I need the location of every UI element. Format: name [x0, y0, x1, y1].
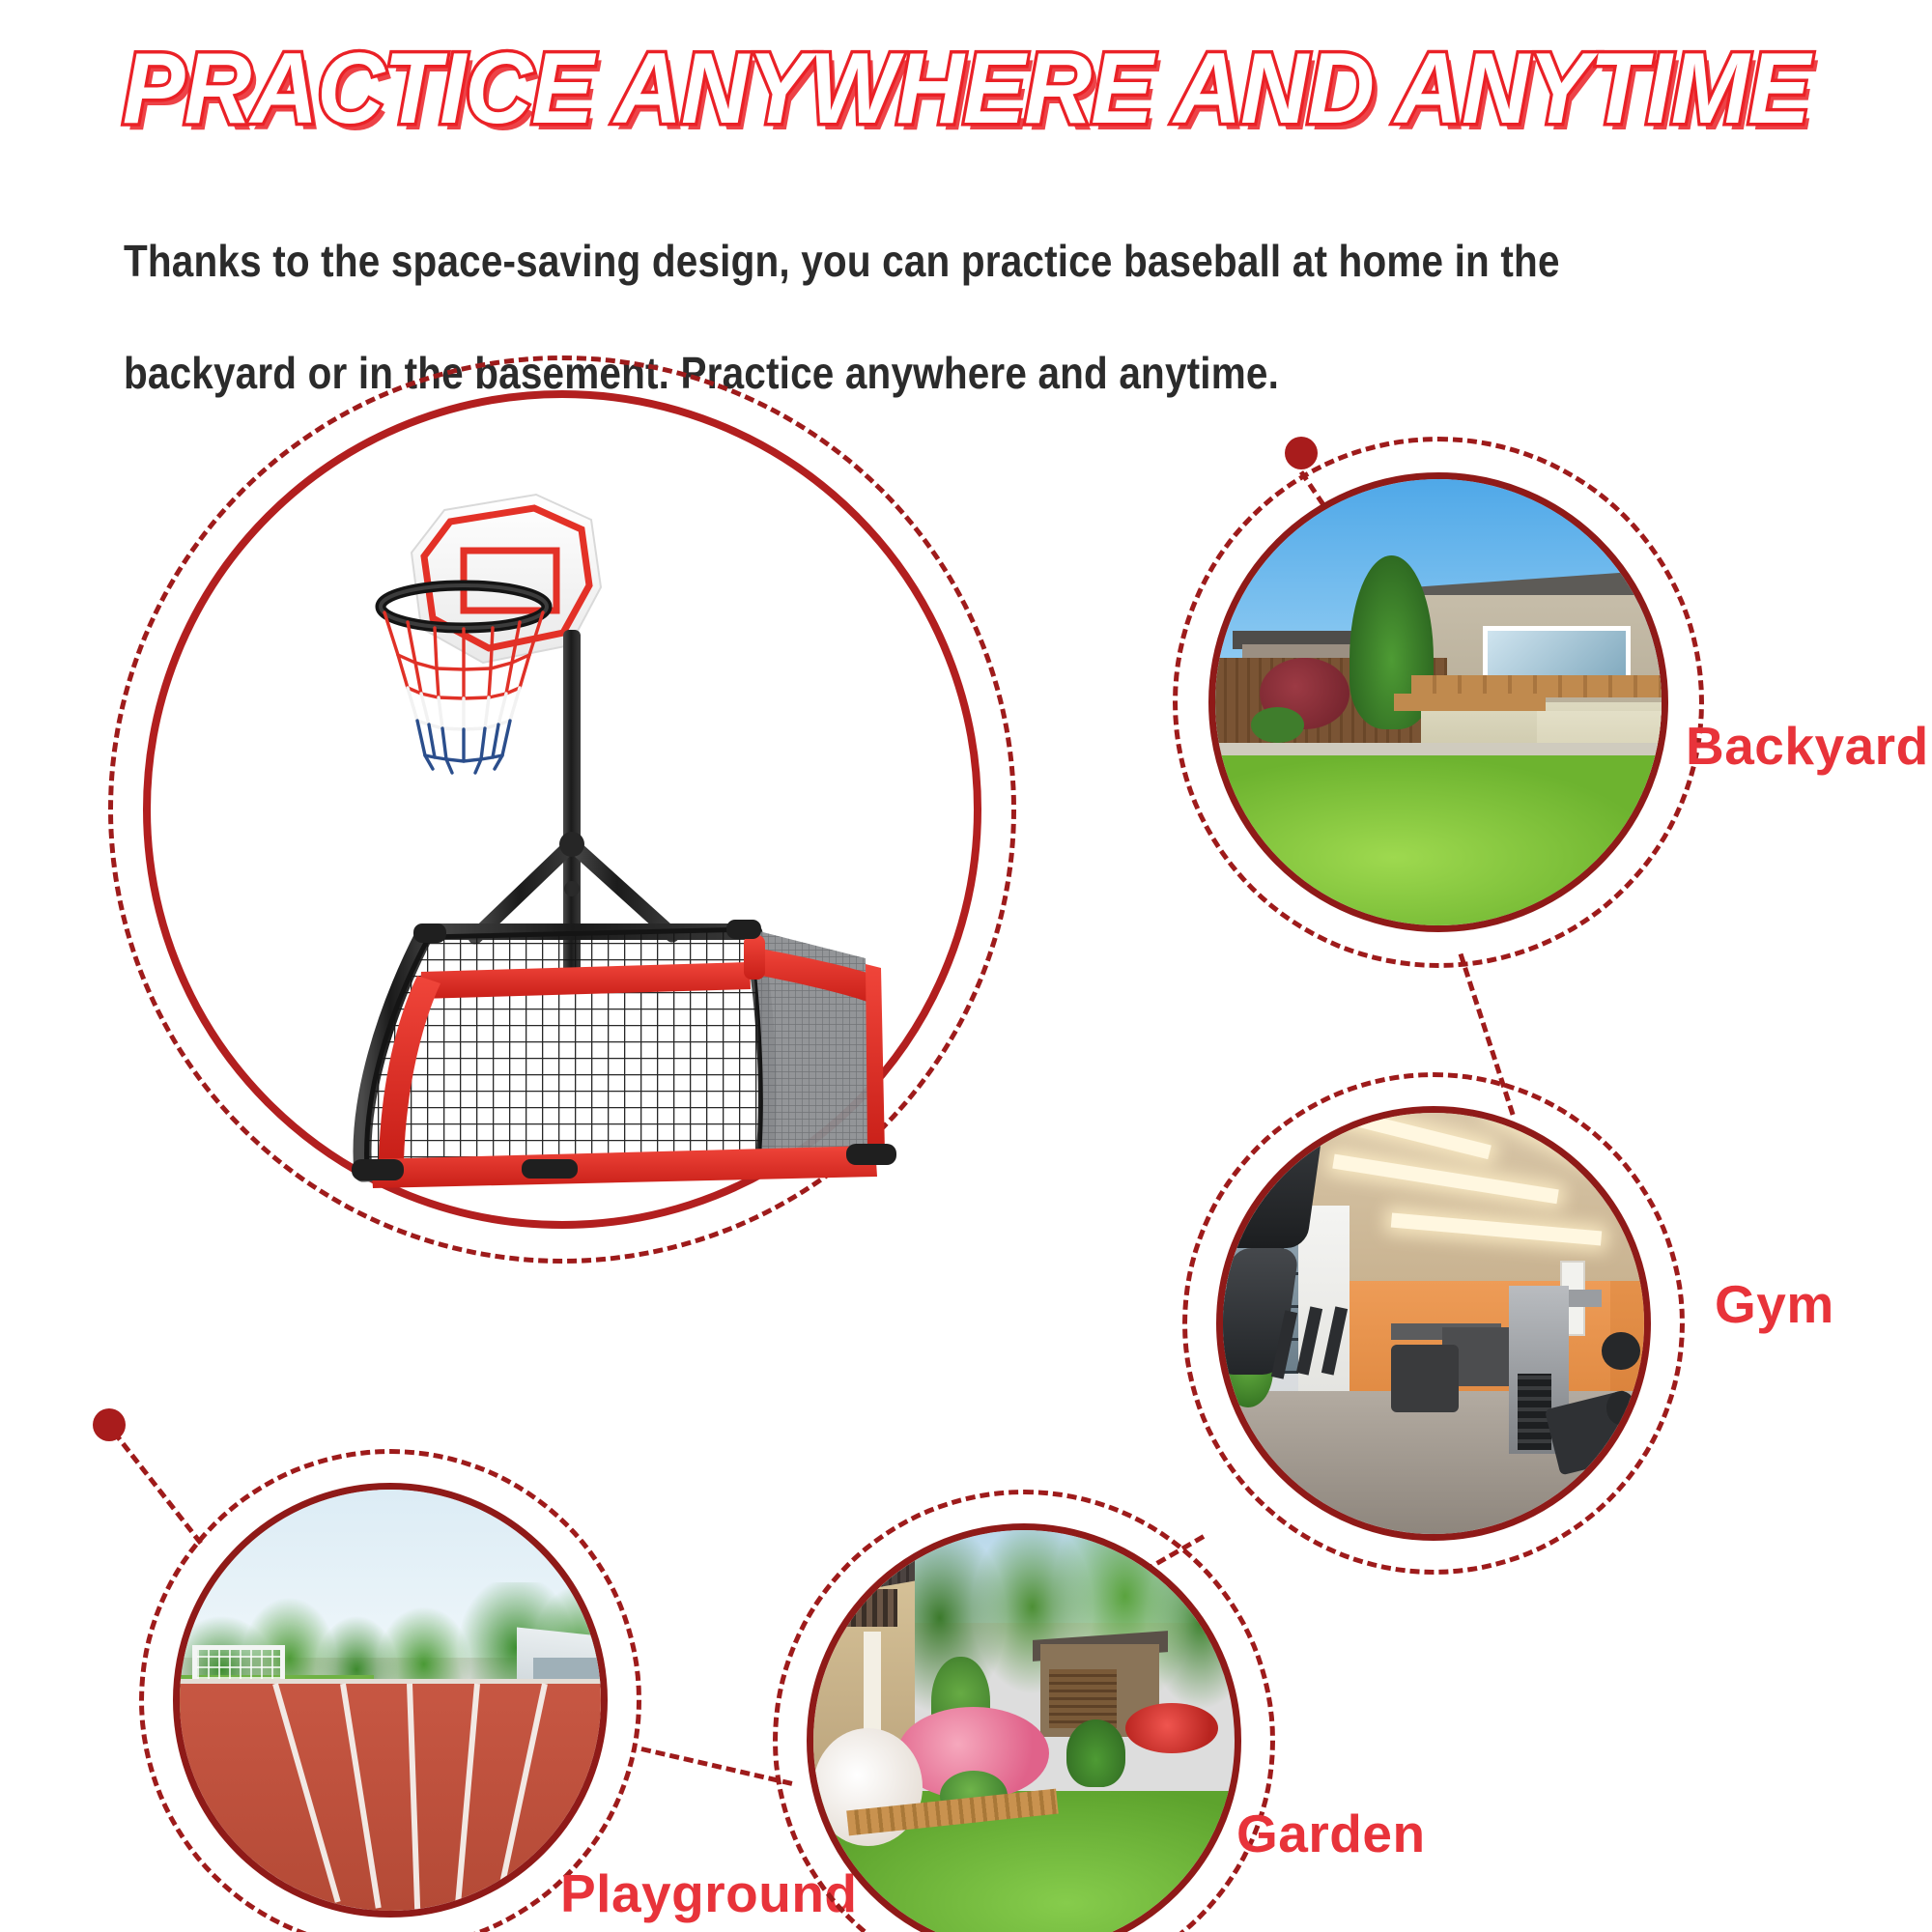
photo-garden[interactable]: [807, 1523, 1241, 1932]
deck-bench-lower: [1394, 694, 1546, 711]
conifer: [1066, 1719, 1125, 1787]
label-backyard: Backyard: [1686, 715, 1929, 777]
dumbbell-2: [1606, 1391, 1636, 1425]
page-title: PRACTICE ANYWHERE AND ANYTIME: [68, 37, 1864, 142]
green-shrub: [1251, 707, 1304, 743]
product-image-rebounder-with-hoop: [328, 483, 947, 1198]
firewood-stack: [1049, 1669, 1117, 1728]
subtitle-line-1: Thanks to the space-saving design, you c…: [124, 205, 1620, 317]
track-kerb: [180, 1679, 601, 1684]
connector-line-garden-playground: [640, 1747, 792, 1786]
connector-dot-backyard: [1285, 437, 1318, 469]
red-flower-bush: [1125, 1703, 1218, 1753]
lawn: [1215, 755, 1662, 925]
weight-bench: [1391, 1345, 1459, 1412]
label-garden: Garden: [1236, 1803, 1426, 1864]
label-gym: Gym: [1715, 1273, 1834, 1335]
balcony: [830, 1589, 897, 1627]
dumbbell-1: [1602, 1332, 1639, 1370]
photo-playground[interactable]: [173, 1483, 608, 1918]
connector-dot-playground: [93, 1408, 126, 1441]
elliptical-1: [1216, 1113, 1325, 1248]
photo-gym[interactable]: [1216, 1106, 1651, 1541]
subtitle-paragraph: Thanks to the space-saving design, you c…: [124, 205, 1620, 429]
photo-backyard[interactable]: [1208, 472, 1668, 932]
